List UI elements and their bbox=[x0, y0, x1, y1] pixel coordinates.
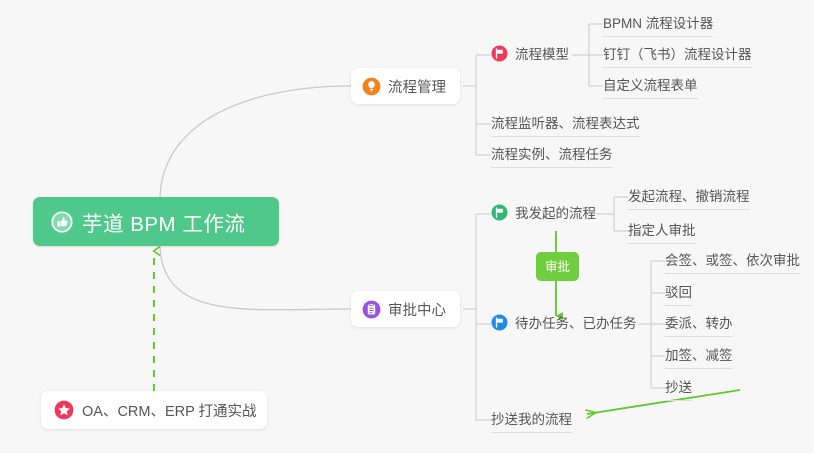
flag-icon bbox=[491, 45, 508, 62]
branch-node-approval-center[interactable]: 审批中心 bbox=[351, 291, 460, 327]
node-label-my-initiated-flows: 我发起的流程 bbox=[515, 202, 596, 222]
leaf-bpmn-designer[interactable]: BPMN 流程设计器 bbox=[603, 12, 713, 37]
annotation-arrow-copy-to-flow bbox=[587, 390, 740, 414]
mindmap-canvas: 芋道 BPM 工作流 流程管理 审批中心 流程模型 流程监听器、流程 bbox=[0, 0, 814, 453]
branch-label-process-management: 流程管理 bbox=[388, 76, 446, 97]
node-my-initiated-flows[interactable]: 我发起的流程 bbox=[491, 202, 596, 222]
node-todo-done-tasks[interactable]: 待办任务、已办任务 bbox=[491, 312, 637, 332]
connector-root-to-process-management bbox=[160, 86, 351, 197]
approval-tag: 审批 bbox=[536, 252, 579, 281]
leaf-copy-to[interactable]: 抄送 bbox=[665, 376, 692, 401]
leaf-copied-to-me-flows[interactable]: 抄送我的流程 bbox=[491, 408, 572, 433]
leaf-assignee-approval[interactable]: 指定人审批 bbox=[628, 219, 696, 244]
flag-icon bbox=[491, 204, 508, 221]
branch-label-approval-center: 审批中心 bbox=[388, 299, 446, 320]
flag-icon bbox=[491, 314, 508, 331]
leaf-process-listener[interactable]: 流程监听器、流程表达式 bbox=[491, 112, 640, 137]
star-icon bbox=[54, 400, 74, 420]
root-label: 芋道 BPM 工作流 bbox=[82, 207, 245, 237]
node-label-process-model: 流程模型 bbox=[515, 43, 569, 63]
leaf-reject[interactable]: 驳回 bbox=[665, 281, 692, 306]
leaf-process-instance[interactable]: 流程实例、流程任务 bbox=[491, 143, 613, 168]
connector-root-to-approval-center bbox=[160, 246, 351, 310]
node-label-todo-done-tasks: 待办任务、已办任务 bbox=[515, 312, 637, 332]
leaf-start-cancel-flow[interactable]: 发起流程、撤销流程 bbox=[628, 185, 750, 210]
integration-card-label: OA、CRM、ERP 打通实战 bbox=[82, 400, 257, 421]
clipboard-icon bbox=[362, 300, 381, 319]
leaf-countersign[interactable]: 会签、或签、依次审批 bbox=[665, 249, 800, 274]
thumbs-up-icon bbox=[50, 210, 74, 234]
branch-node-process-management[interactable]: 流程管理 bbox=[351, 68, 460, 104]
root-node[interactable]: 芋道 BPM 工作流 bbox=[33, 197, 279, 246]
leaf-delegate-transfer[interactable]: 委派、转办 bbox=[665, 312, 733, 337]
lightbulb-icon bbox=[362, 77, 381, 96]
leaf-add-remove-sign[interactable]: 加签、减签 bbox=[665, 344, 733, 369]
integration-card[interactable]: OA、CRM、ERP 打通实战 bbox=[41, 391, 267, 429]
node-process-model[interactable]: 流程模型 bbox=[491, 43, 569, 63]
leaf-custom-form[interactable]: 自定义流程表单 bbox=[603, 74, 698, 99]
leaf-dingtalk-designer[interactable]: 钉钉（飞书）流程设计器 bbox=[603, 43, 752, 68]
approval-tag-label: 审批 bbox=[545, 260, 570, 274]
